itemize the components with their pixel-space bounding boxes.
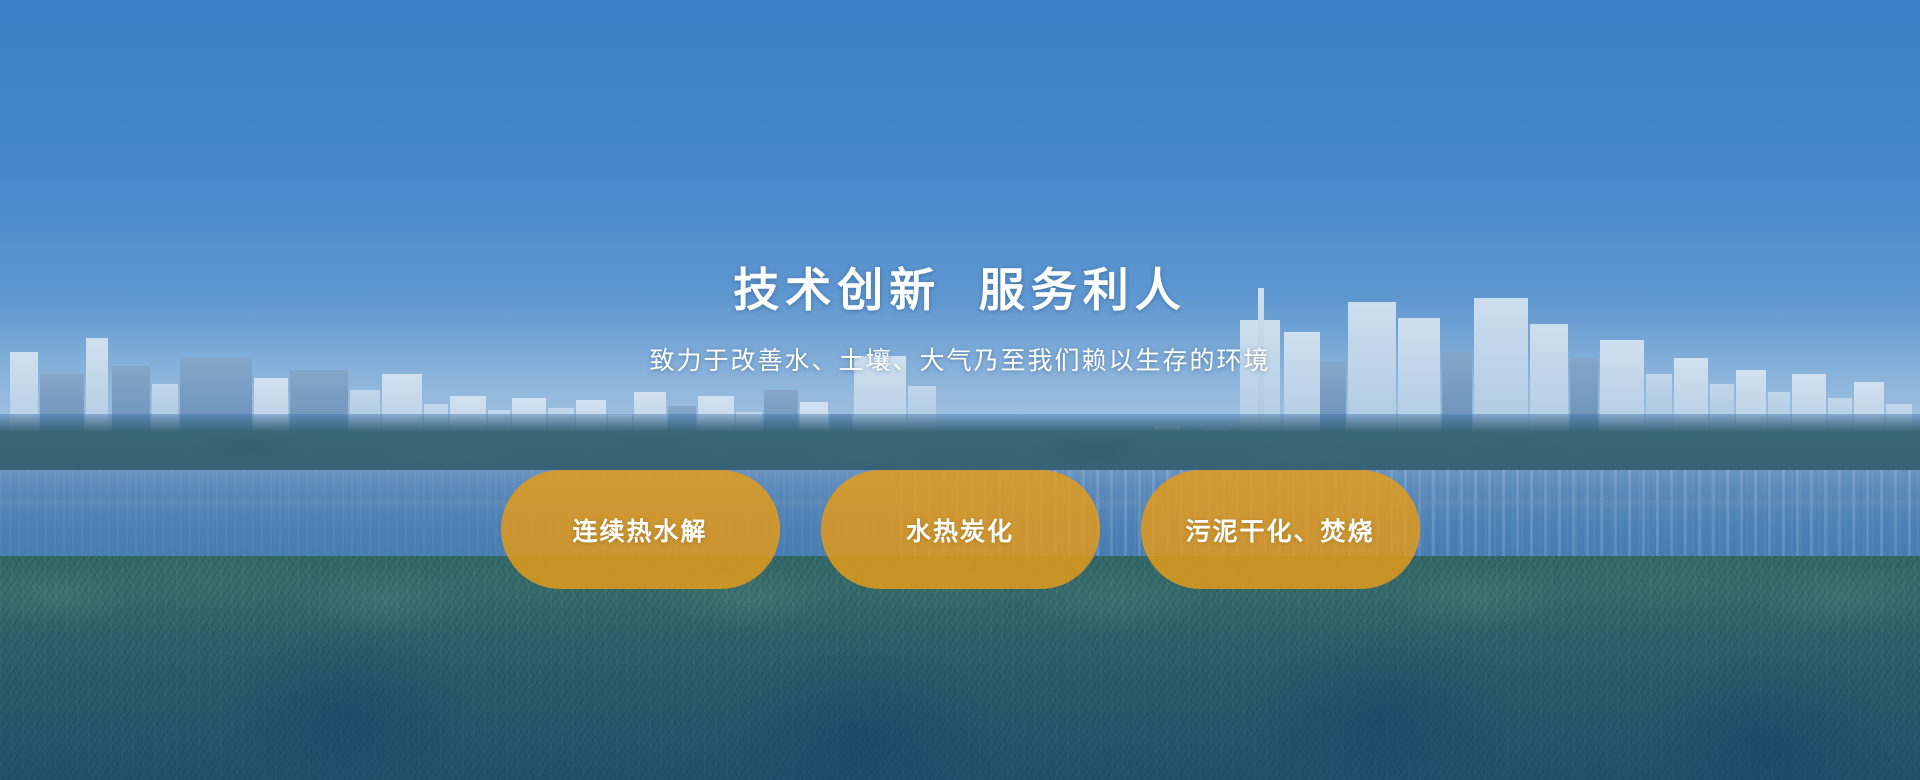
pill-label: 连续热水解 (572, 512, 707, 548)
hero-banner: 技术创新 服务利人 致力于改善水、土壤、大气乃至我们赖以生存的环境 连续热水解 … (0, 0, 1920, 780)
hero-pill-group: 连续热水解 水热炭化 污泥干化、焚烧 (0, 470, 1920, 589)
pill-label: 水热炭化 (906, 512, 1014, 548)
pill-button-hydrothermal-carbonization[interactable]: 水热炭化 (821, 470, 1100, 589)
hero-subheadline: 致力于改善水、土壤、大气乃至我们赖以生存的环境 (0, 345, 1920, 378)
pill-button-sludge-drying-incineration[interactable]: 污泥干化、焚烧 (1141, 470, 1420, 589)
pill-label: 污泥干化、焚烧 (1185, 512, 1374, 548)
pill-button-continuous-thermal-hydrolysis[interactable]: 连续热水解 (501, 470, 780, 589)
hero-content: 技术创新 服务利人 致力于改善水、土壤、大气乃至我们赖以生存的环境 连续热水解 … (0, 0, 1920, 780)
hero-headline: 技术创新 服务利人 (0, 263, 1920, 317)
